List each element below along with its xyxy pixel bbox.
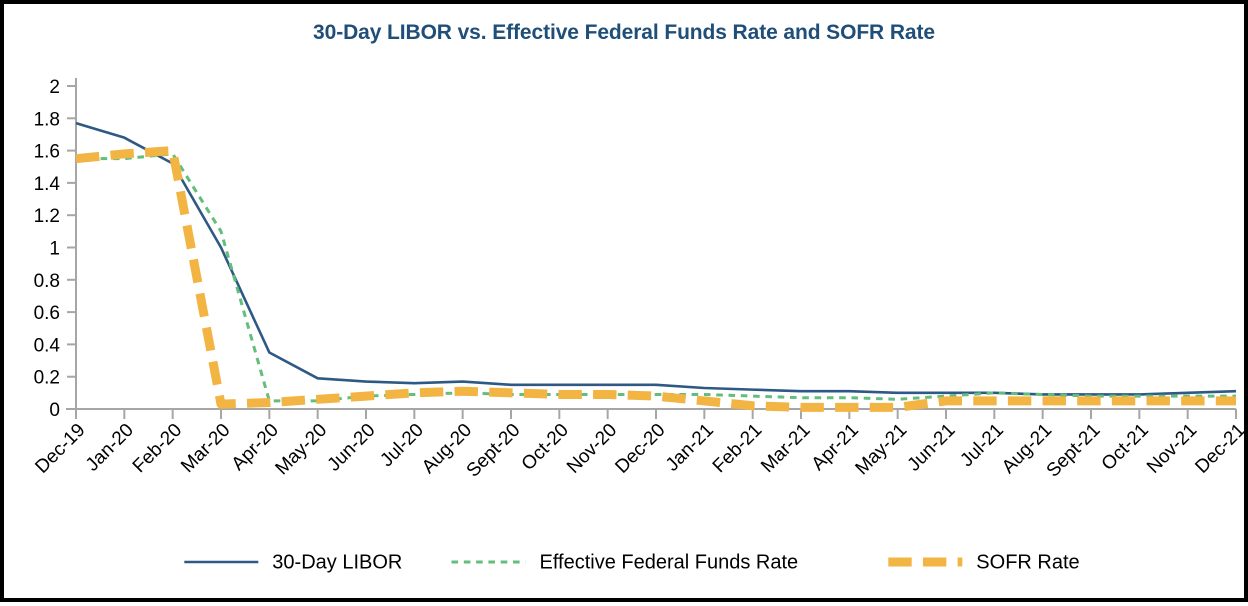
chart-container: 30-Day LIBOR vs. Effective Federal Funds…	[0, 0, 1248, 602]
x-axis-tick-label: Mar-21	[757, 420, 814, 477]
y-axis-tick-label: 0.6	[34, 303, 60, 324]
x-axis-tick-label: Sept-21	[1043, 420, 1105, 482]
y-axis-tick-label: 1.8	[34, 109, 60, 130]
y-axis-tick-label: 0.2	[34, 368, 60, 389]
legend-label[interactable]: Effective Federal Funds Rate	[540, 551, 799, 573]
x-axis-tick-label: Feb-21	[709, 420, 766, 477]
y-axis-tick-label: 1.2	[34, 206, 60, 227]
data-series-group	[76, 123, 1236, 407]
x-axis-tick-label: Oct-20	[518, 420, 573, 475]
series-line	[76, 123, 1236, 394]
y-axis-tick-label: 1	[49, 239, 60, 260]
y-axis-tick-label: 0	[49, 400, 60, 421]
x-axis-tick-label: Jan-20	[82, 420, 138, 476]
legend-label[interactable]: 30-Day LIBOR	[272, 551, 402, 573]
x-axis-tick-label: Mar-20	[177, 420, 234, 477]
x-axis-tick-label: Dec-20	[611, 420, 669, 478]
y-axis-tick-label: 1.4	[34, 174, 61, 195]
chart-legend: 30-Day LIBOREffective Federal Funds Rate…	[184, 551, 1079, 573]
x-axis-tick-label: May-20	[272, 420, 332, 480]
x-axis-tick-label: Feb-20	[129, 420, 186, 477]
x-axis-tick-label: Dec-19	[31, 420, 89, 478]
x-axis-tick-label: Jun-20	[324, 420, 380, 476]
x-axis-tick-label: Nov-21	[1143, 420, 1201, 478]
y-axis-tick-label: 1.6	[34, 142, 60, 163]
x-axis-tick-label: Dec-21	[1191, 420, 1248, 478]
x-axis-tick-label: Sept-20	[463, 420, 525, 482]
x-axis-tick-label: Jun-21	[904, 420, 960, 476]
x-axis-tick-label: Nov-20	[563, 420, 621, 478]
line-chart-plot: 00.20.40.60.811.21.41.61.82 Dec-19Jan-20…	[4, 4, 1248, 606]
x-axis-tick-label: Oct-21	[1098, 420, 1153, 475]
legend-label[interactable]: SOFR Rate	[976, 551, 1079, 573]
series-line	[76, 151, 1236, 408]
y-axis: 00.20.40.60.811.21.41.61.82	[34, 77, 76, 421]
x-axis-tick-label: Jan-21	[662, 420, 718, 476]
y-axis-tick-label: 0.8	[34, 271, 60, 292]
x-axis-tick-label: May-21	[852, 420, 912, 480]
series-line	[76, 154, 1236, 401]
y-axis-tick-label: 2	[49, 77, 60, 98]
x-axis: Dec-19Jan-20Feb-20Mar-20Apr-20May-20Jun-…	[31, 409, 1248, 482]
y-axis-tick-label: 0.4	[34, 335, 61, 356]
